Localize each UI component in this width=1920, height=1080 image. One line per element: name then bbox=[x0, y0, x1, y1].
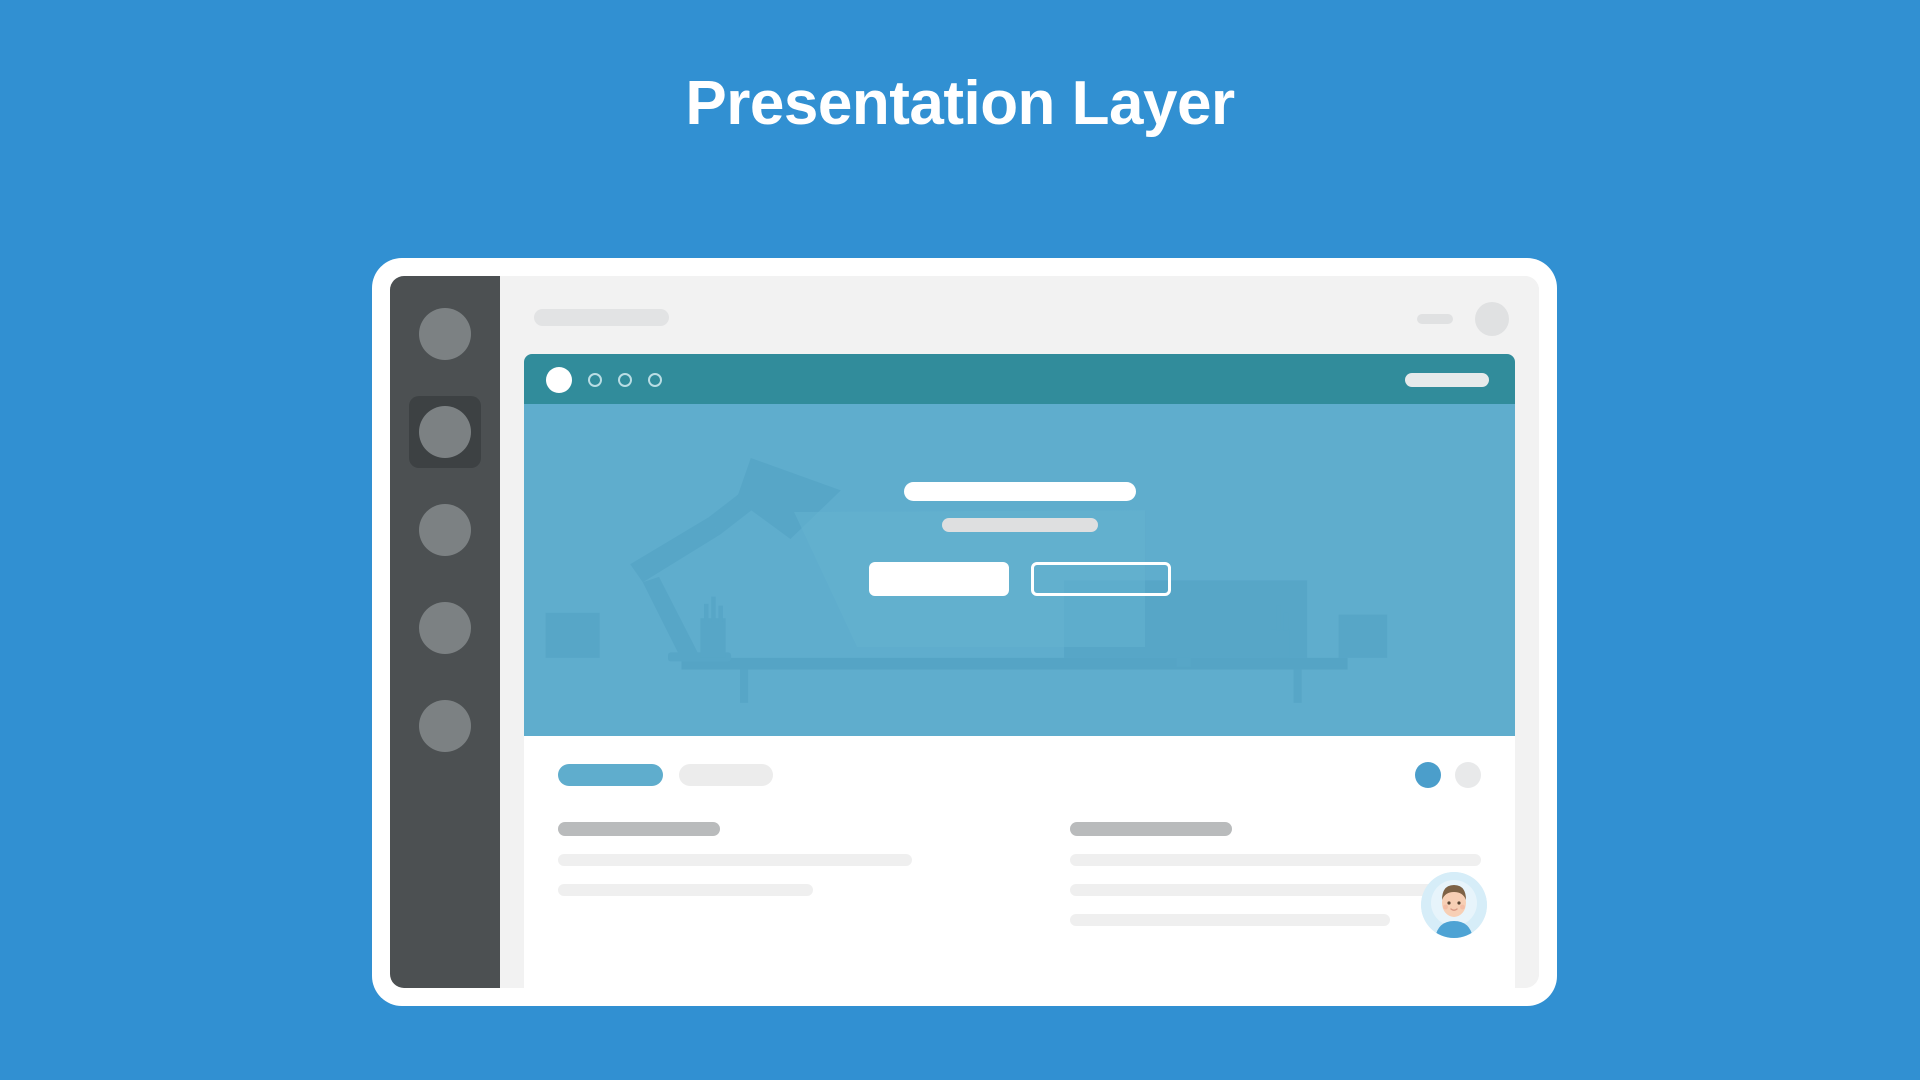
circle-icon bbox=[419, 406, 471, 458]
pager-dot-2[interactable] bbox=[1455, 762, 1481, 788]
column-heading-placeholder bbox=[558, 822, 720, 836]
sidebar-nav-item-3[interactable] bbox=[409, 494, 481, 566]
hero-button-group bbox=[869, 562, 1171, 596]
circle-icon bbox=[419, 504, 471, 556]
tablet-device-frame bbox=[372, 258, 1557, 1006]
hero-secondary-button[interactable] bbox=[1031, 562, 1171, 596]
tab-inactive[interactable] bbox=[679, 764, 773, 786]
circle-icon bbox=[419, 700, 471, 752]
tab-active[interactable] bbox=[558, 764, 663, 786]
content-columns bbox=[558, 822, 1481, 926]
browser-dot-1-icon[interactable] bbox=[588, 373, 602, 387]
tab-bar bbox=[558, 764, 1481, 786]
hero-content bbox=[524, 482, 1515, 596]
pager-dot-1[interactable] bbox=[1415, 762, 1441, 788]
hero-section bbox=[524, 404, 1515, 736]
app-title-placeholder bbox=[534, 309, 669, 326]
user-avatar[interactable] bbox=[1421, 872, 1487, 938]
sidebar bbox=[390, 276, 500, 988]
browser-dot-3-icon[interactable] bbox=[648, 373, 662, 387]
hero-headline-placeholder bbox=[904, 482, 1136, 501]
sidebar-nav-item-5[interactable] bbox=[409, 690, 481, 762]
device-screen bbox=[390, 276, 1539, 988]
browser-dot-2-icon[interactable] bbox=[618, 373, 632, 387]
text-line-placeholder bbox=[1070, 854, 1482, 866]
circle-icon bbox=[419, 602, 471, 654]
profile-avatar-icon[interactable] bbox=[1475, 302, 1509, 336]
app-header-bar bbox=[500, 276, 1539, 354]
sidebar-nav-item-1[interactable] bbox=[409, 298, 481, 370]
text-line-placeholder bbox=[1070, 884, 1482, 896]
main-pane bbox=[500, 276, 1539, 988]
text-line-placeholder bbox=[558, 884, 813, 896]
pagination-dots bbox=[1415, 762, 1481, 788]
browser-dot-active-icon[interactable] bbox=[546, 367, 572, 393]
person-avatar-icon bbox=[1421, 872, 1487, 938]
browser-title-bar bbox=[524, 354, 1515, 404]
hero-primary-button[interactable] bbox=[869, 562, 1009, 596]
content-section bbox=[524, 736, 1515, 988]
column-heading-placeholder bbox=[1070, 822, 1232, 836]
text-line-placeholder bbox=[558, 854, 912, 866]
sidebar-nav-item-2[interactable] bbox=[409, 396, 481, 468]
page-title: Presentation Layer bbox=[0, 68, 1920, 139]
browser-window bbox=[524, 354, 1515, 988]
sidebar-nav-item-4[interactable] bbox=[409, 592, 481, 664]
circle-icon bbox=[419, 308, 471, 360]
browser-url-bar[interactable] bbox=[1405, 373, 1489, 387]
content-column-left bbox=[558, 822, 970, 926]
hero-subhead-placeholder bbox=[942, 518, 1098, 532]
minimize-icon[interactable] bbox=[1417, 314, 1453, 324]
text-line-placeholder bbox=[1070, 914, 1391, 926]
content-column-right bbox=[1070, 822, 1482, 926]
